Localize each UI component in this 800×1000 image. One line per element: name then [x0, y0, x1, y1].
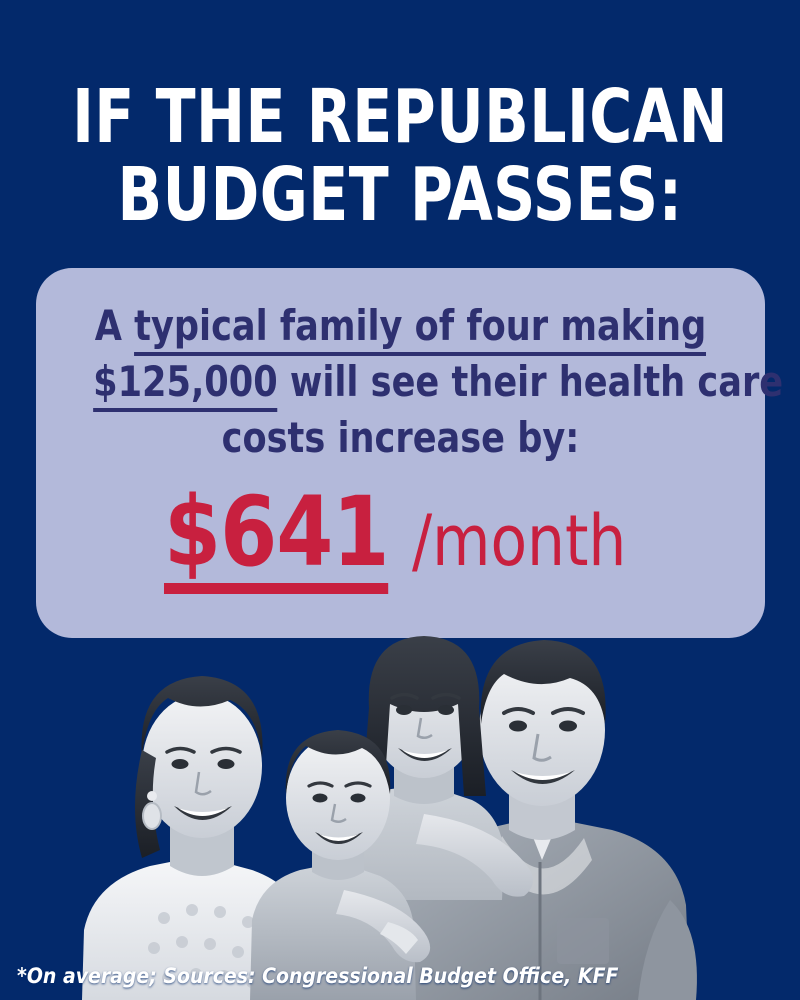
cost-increase-row: $641/month	[70, 484, 731, 594]
stat-card: A typical family of four making $125,000…	[36, 268, 765, 638]
infographic-poster: IF THE REPUBLICAN BUDGET PASSES: A typic…	[0, 0, 800, 1000]
stat-line-1: A typical family of four making	[93, 298, 708, 354]
headline-line-1: IF THE REPUBLICAN	[48, 78, 752, 156]
stat-line-2: $125,000 will see their health care	[93, 354, 708, 410]
stat-line-3: costs increase by:	[93, 410, 708, 466]
source-footnote: *On average; Sources: Congressional Budg…	[17, 964, 618, 988]
page-title: IF THE REPUBLICAN BUDGET PASSES:	[48, 78, 752, 234]
cost-increase-period: /month	[412, 493, 626, 589]
stat-line-2-rest: will see their health care	[278, 357, 783, 406]
stat-income-amount: $125,000	[93, 357, 278, 412]
stat-card-body: A typical family of four making $125,000…	[93, 298, 708, 466]
stat-line-1-emphasis: typical family of four making	[134, 301, 706, 356]
stat-line-1-prefix: A	[95, 301, 134, 350]
family-photo	[72, 600, 712, 1000]
cost-increase-amount: $641	[164, 484, 389, 594]
headline-line-2: BUDGET PASSES:	[48, 156, 752, 234]
